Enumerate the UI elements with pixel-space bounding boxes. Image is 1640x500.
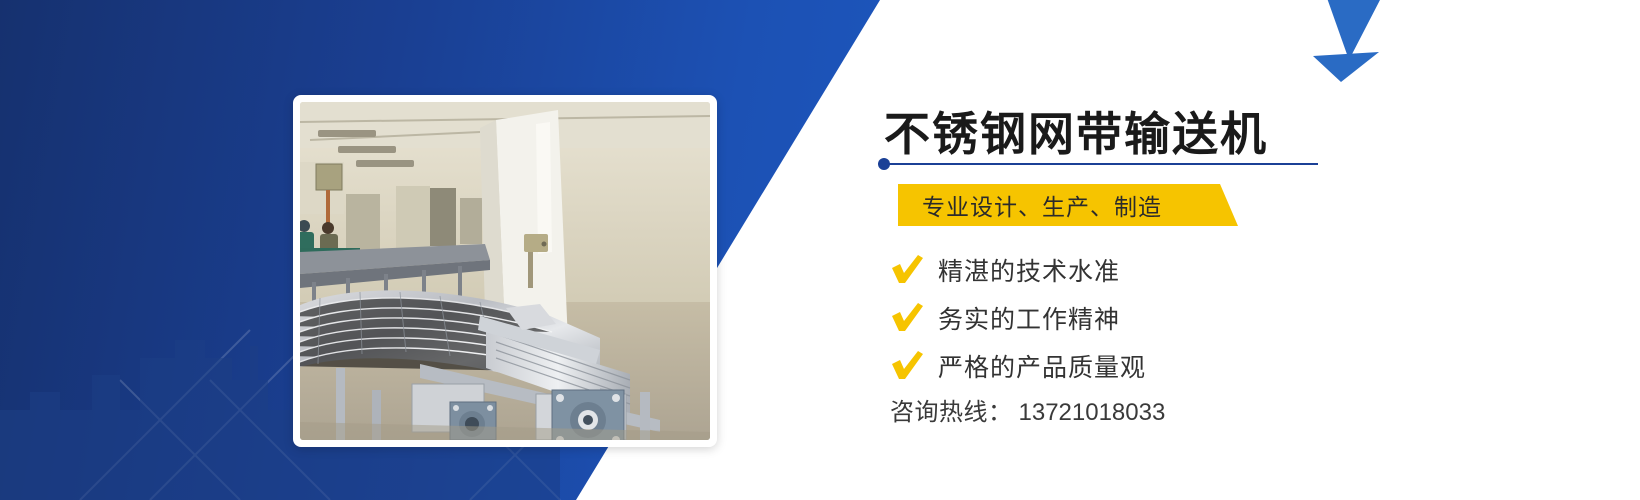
feature-list: 精湛的技术水准 务实的工作精神 严格的产品质量观 <box>890 246 1310 390</box>
hotline-number: 13721018033 <box>1019 399 1166 427</box>
title-rule-line <box>888 163 1318 165</box>
check-icon <box>890 255 924 285</box>
feature-label: 严格的产品质量观 <box>938 348 1146 384</box>
product-photo <box>300 102 710 440</box>
banner-content: 不锈钢网带输送机 专业设计、生产、制造 精湛的技术水准 <box>878 0 1640 500</box>
page-title: 不锈钢网带输送机 <box>884 98 1268 164</box>
tagline-text: 专业设计、生产、制造 <box>898 188 1162 222</box>
promo-banner: 不锈钢网带输送机 专业设计、生产、制造 精湛的技术水准 <box>0 0 1640 500</box>
product-photo-card <box>293 95 717 447</box>
title-underline <box>878 158 1318 170</box>
hotline: 咨询热线： 13721018033 <box>890 392 1165 427</box>
feature-label: 务实的工作精神 <box>938 300 1120 336</box>
tagline-badge: 专业设计、生产、制造 <box>898 184 1238 226</box>
check-icon <box>890 303 924 333</box>
hotline-label: 咨询热线： <box>890 392 1013 427</box>
list-item: 严格的产品质量观 <box>890 342 1310 390</box>
double-chevron-arrow-icon <box>1283 0 1403 90</box>
list-item: 务实的工作精神 <box>890 294 1310 342</box>
check-icon <box>890 351 924 381</box>
feature-label: 精湛的技术水准 <box>938 252 1120 288</box>
list-item: 精湛的技术水准 <box>890 246 1310 294</box>
